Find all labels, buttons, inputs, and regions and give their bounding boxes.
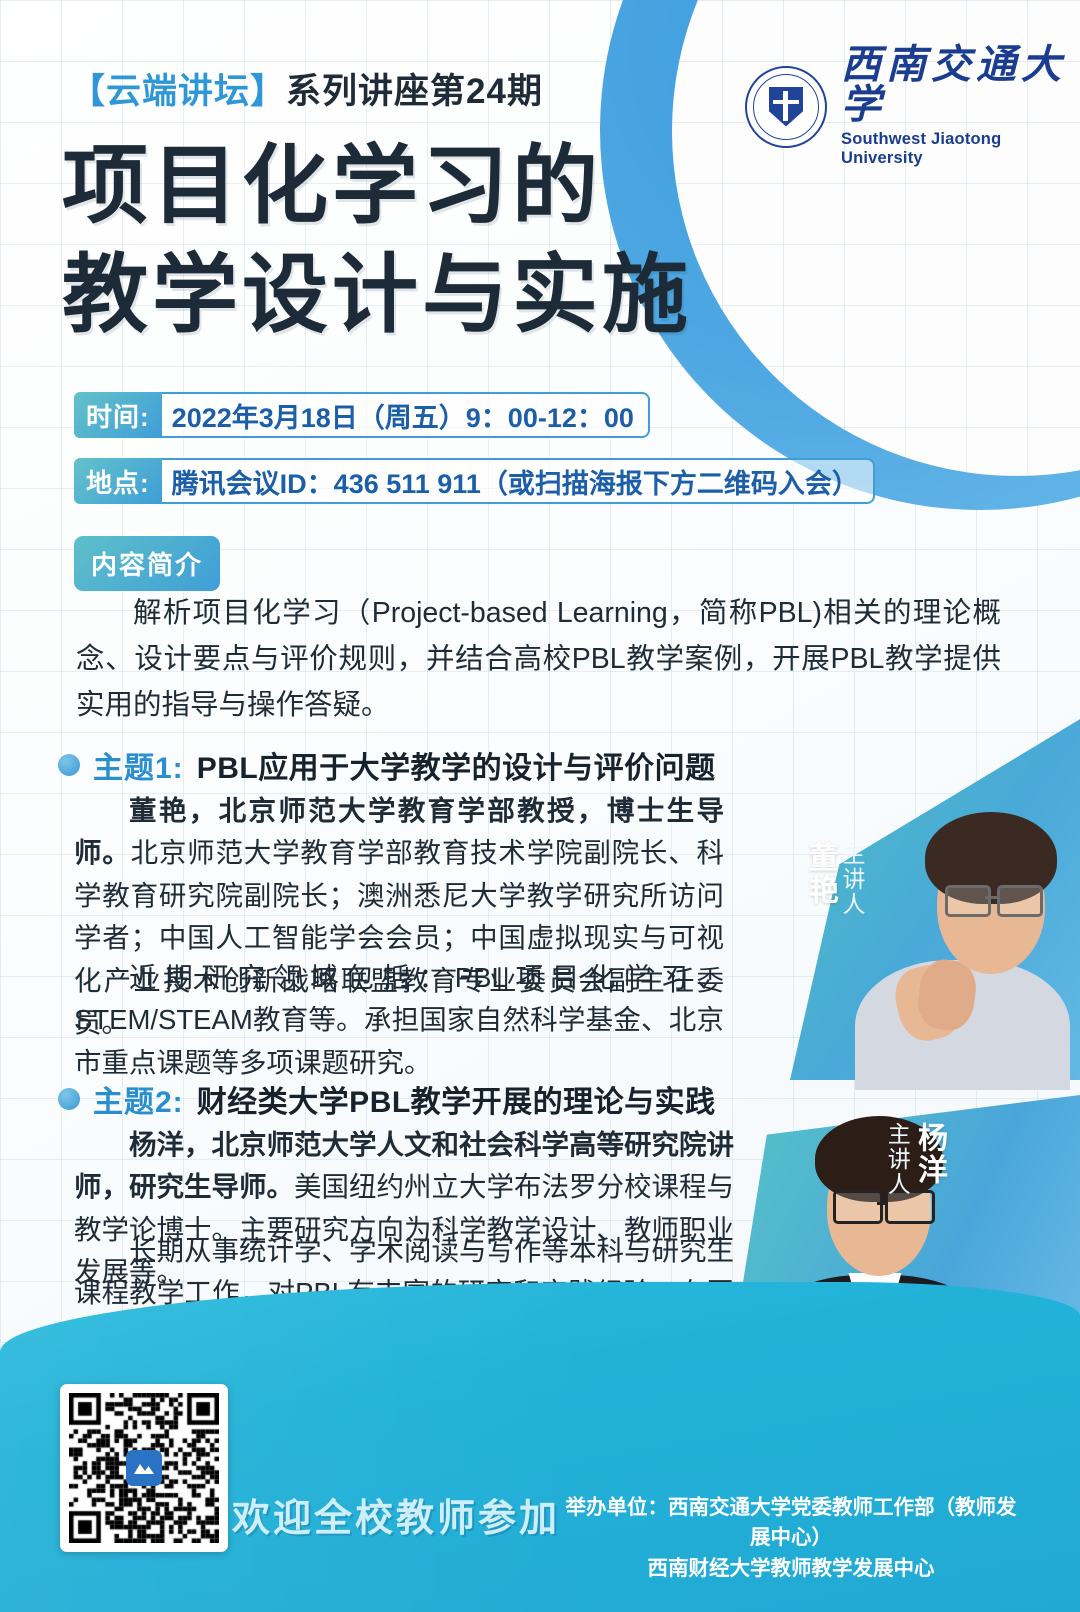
speaker-1-name: 董艳 xyxy=(804,842,836,906)
logo-name-en: Southwest Jiaotong University xyxy=(841,130,1080,168)
title-line-2: 教学设计与实施 xyxy=(62,241,692,350)
speaker-2-name: 杨洋 xyxy=(913,1122,945,1186)
page-title: 项目化学习的 教学设计与实施 xyxy=(62,132,692,350)
university-logo: 西南交通大学 Southwest Jiaotong University xyxy=(745,45,1080,168)
title-line-1: 项目化学习的 xyxy=(62,138,602,234)
topic-2-heading: 主题2: 财经类大学PBL教学开展的理论与实践 xyxy=(58,1077,716,1121)
speaker-1-photo xyxy=(845,790,1080,1090)
speaker-1-role: 主讲人 xyxy=(839,842,865,917)
kicker-rest: 系列讲座第24期 xyxy=(286,72,543,111)
host-line-1: 举办单位：西南交通大学党委教师工作部（教师发展中心） xyxy=(556,1493,1026,1554)
university-seal-icon xyxy=(745,66,827,148)
topic-1-heading: 主题1: PBL应用于大学教学的设计与评价问题 xyxy=(58,743,716,787)
place-label: 地点: xyxy=(74,458,162,504)
bullet-icon xyxy=(58,754,80,776)
time-bar: 时间: 2022年3月18日（周五）9：00-12：00 xyxy=(74,392,650,438)
logo-name-cn: 西南交通大学 xyxy=(841,45,1080,125)
tencent-meeting-logo-icon xyxy=(126,1450,162,1486)
speaker-2-caption: 主讲人 杨洋 xyxy=(884,1122,945,1197)
speaker-1-caption: 董艳 主讲人 xyxy=(804,842,865,917)
intro-paragraph: 解析项目化学习（Project-based Learning，简称PBL)相关的… xyxy=(76,590,1001,728)
place-value: 腾讯会议ID：436 511 911（或扫描海报下方二维码入会） xyxy=(162,458,875,504)
topic-1-title: PBL应用于大学教学的设计与评价问题 xyxy=(197,743,716,787)
intro-section-tag: 内容简介 xyxy=(74,536,220,591)
topic-2-number: 主题2: xyxy=(93,1077,184,1121)
time-value: 2022年3月18日（周五）9：00-12：00 xyxy=(162,392,650,438)
topic-2-title: 财经类大学PBL教学开展的理论与实践 xyxy=(197,1077,716,1121)
welcome-text: 欢迎全校教师参加 xyxy=(232,1487,560,1542)
kicker-bracket: 【云端讲坛】 xyxy=(70,72,286,111)
speaker-1-bio-para-2: 近期研究领域包括：PBL项目化学习、STEM/STEAM教育等。承担国家自然科学… xyxy=(74,957,724,1084)
place-bar: 地点: 腾讯会议ID：436 511 911（或扫描海报下方二维码入会） xyxy=(74,458,875,504)
topic-1-number: 主题1: xyxy=(93,743,184,787)
series-kicker: 【云端讲坛】系列讲座第24期 xyxy=(70,63,543,114)
time-label: 时间: xyxy=(74,392,162,438)
poster-canvas: 西南交通大学 Southwest Jiaotong University 【云端… xyxy=(0,0,1080,1612)
host-organizations: 举办单位：西南交通大学党委教师工作部（教师发展中心） 西南财经大学教师教学发展中… xyxy=(556,1493,1026,1584)
qr-code-icon[interactable] xyxy=(60,1384,228,1552)
bullet-icon xyxy=(58,1088,80,1110)
speaker-2-role: 主讲人 xyxy=(884,1122,910,1197)
host-line-2: 西南财经大学教师教学发展中心 xyxy=(556,1554,1026,1584)
